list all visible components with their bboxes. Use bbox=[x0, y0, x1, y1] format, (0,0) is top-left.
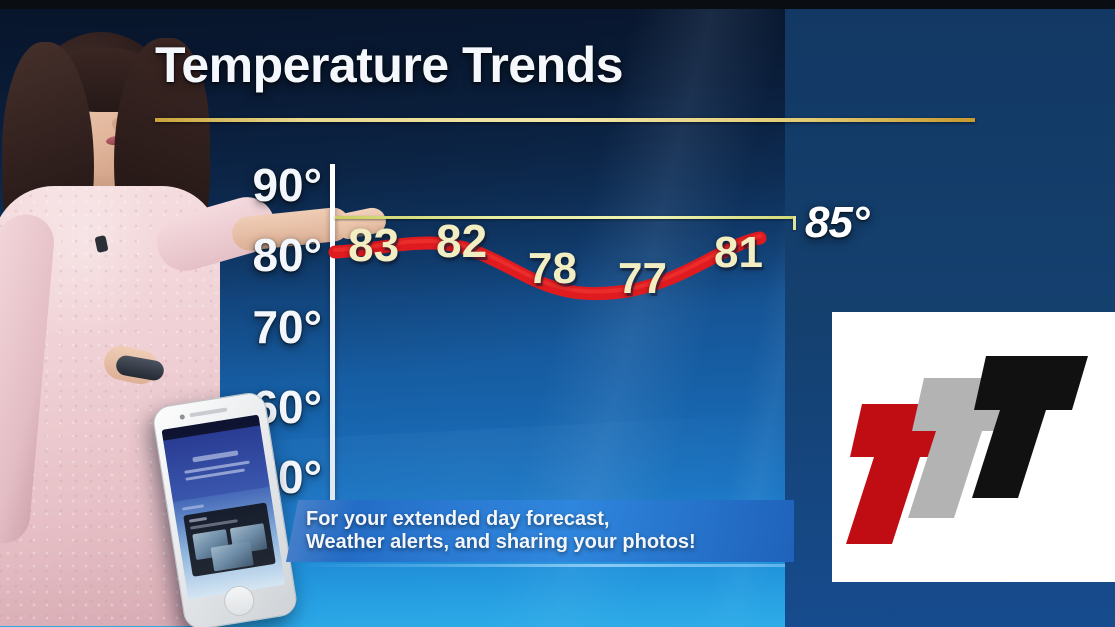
banner-line-1: For your extended day forecast, bbox=[306, 508, 609, 531]
phone-screen bbox=[162, 415, 286, 600]
phone-earpiece bbox=[189, 407, 227, 417]
banner-line-2: Weather alerts, and sharing your photos! bbox=[306, 531, 696, 554]
broadcast-screen: Temperature Trends 90° 80° 70° 60° 50° 8… bbox=[0, 0, 1115, 627]
station-logo bbox=[832, 312, 1115, 582]
triple-t-logo-icon bbox=[832, 312, 1115, 582]
phone-photo-card bbox=[183, 502, 276, 576]
phone-photo-thumbnail bbox=[211, 541, 254, 571]
letterbox-bar bbox=[0, 0, 1115, 9]
phone-section-label bbox=[182, 504, 204, 510]
promo-banner: For your extended day forecast, Weather … bbox=[286, 500, 794, 562]
phone-front-camera bbox=[179, 414, 185, 420]
phone-card-title bbox=[189, 517, 207, 523]
